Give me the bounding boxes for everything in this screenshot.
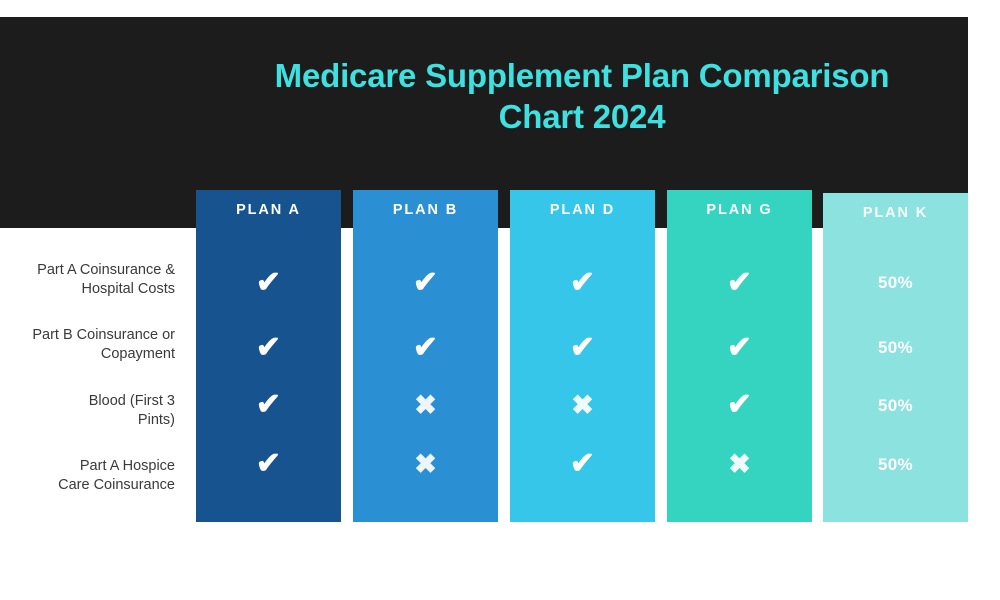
check-icon: ✔: [413, 328, 438, 368]
check-icon: ✔: [727, 328, 752, 368]
comparison-chart-canvas: Medicare Supplement Plan Comparison Char…: [0, 0, 1000, 600]
percent-value: 50%: [878, 386, 913, 426]
row-label-line-2: Care Coinsurance: [0, 476, 175, 495]
row-label-hospice-care: Part A Hospice Care Coinsurance: [0, 457, 175, 495]
cell-a-part-b-coinsurance: ✔: [196, 328, 341, 368]
plan-column-b[interactable]: PLAN B ✔ ✔ ✖ ✖: [353, 190, 498, 522]
row-label-line-2: Hospital Costs: [0, 280, 175, 299]
cell-g-blood: ✔: [667, 385, 812, 425]
page-title: Medicare Supplement Plan Comparison Char…: [196, 55, 968, 137]
check-icon: ✔: [256, 263, 281, 303]
row-label-line-2: Copayment: [0, 345, 175, 364]
cell-d-part-a-coinsurance: ✔: [510, 263, 655, 303]
row-label-line-1: Blood (First 3: [0, 392, 175, 411]
plan-column-k[interactable]: PLAN K 50% 50% 50% 50%: [823, 193, 968, 522]
plan-comparison-table: Part A Coinsurance & Hospital Costs Part…: [0, 190, 1000, 525]
check-icon: ✔: [570, 263, 595, 303]
check-icon: ✔: [570, 328, 595, 368]
cell-a-hospice-care: ✔: [196, 444, 341, 484]
row-label-blood: Blood (First 3 Pints): [0, 392, 175, 430]
row-label-part-b-coinsurance: Part B Coinsurance or Copayment: [0, 326, 175, 364]
plan-header-b: PLAN B: [353, 190, 498, 230]
percent-value: 50%: [878, 445, 913, 485]
page-title-line-1: Medicare Supplement Plan Comparison: [196, 55, 968, 96]
cell-g-part-a-coinsurance: ✔: [667, 263, 812, 303]
cell-d-part-b-coinsurance: ✔: [510, 328, 655, 368]
plan-header-a: PLAN A: [196, 190, 341, 230]
cross-icon: ✖: [571, 385, 594, 425]
cell-k-hospice-care: 50%: [823, 445, 968, 485]
row-label-column: Part A Coinsurance & Hospital Costs Part…: [0, 190, 178, 525]
plan-column-a[interactable]: PLAN A ✔ ✔ ✔ ✔: [196, 190, 341, 522]
row-label-line-1: Part A Hospice: [0, 457, 175, 476]
cell-g-hospice-care: ✖: [667, 444, 812, 484]
plan-header-k: PLAN K: [823, 193, 968, 233]
plan-header-g: PLAN G: [667, 190, 812, 230]
percent-value: 50%: [878, 328, 913, 368]
cell-b-hospice-care: ✖: [353, 444, 498, 484]
cell-k-blood: 50%: [823, 386, 968, 426]
row-label-line-1: Part B Coinsurance or: [0, 326, 175, 345]
plan-column-g[interactable]: PLAN G ✔ ✔ ✔ ✖: [667, 190, 812, 522]
cross-icon: ✖: [728, 444, 751, 484]
row-label-part-a-coinsurance: Part A Coinsurance & Hospital Costs: [0, 261, 175, 299]
cell-a-blood: ✔: [196, 385, 341, 425]
cell-a-part-a-coinsurance: ✔: [196, 263, 341, 303]
check-icon: ✔: [570, 444, 595, 484]
percent-value: 50%: [878, 263, 913, 303]
cell-k-part-b-coinsurance: 50%: [823, 328, 968, 368]
cell-b-part-a-coinsurance: ✔: [353, 263, 498, 303]
row-label-line-2: Pints): [0, 411, 175, 430]
cell-d-hospice-care: ✔: [510, 444, 655, 484]
check-icon: ✔: [256, 385, 281, 425]
page-title-line-2: Chart 2024: [196, 96, 968, 137]
cell-g-part-b-coinsurance: ✔: [667, 328, 812, 368]
cell-b-part-b-coinsurance: ✔: [353, 328, 498, 368]
cross-icon: ✖: [414, 444, 437, 484]
cell-b-blood: ✖: [353, 385, 498, 425]
row-label-line-1: Part A Coinsurance &: [0, 261, 175, 280]
check-icon: ✔: [256, 444, 281, 484]
cell-d-blood: ✖: [510, 385, 655, 425]
check-icon: ✔: [413, 263, 438, 303]
check-icon: ✔: [727, 263, 752, 303]
cell-k-part-a-coinsurance: 50%: [823, 263, 968, 303]
check-icon: ✔: [727, 385, 752, 425]
plan-header-d: PLAN D: [510, 190, 655, 230]
check-icon: ✔: [256, 328, 281, 368]
plan-column-d[interactable]: PLAN D ✔ ✔ ✖ ✔: [510, 190, 655, 522]
cross-icon: ✖: [414, 385, 437, 425]
